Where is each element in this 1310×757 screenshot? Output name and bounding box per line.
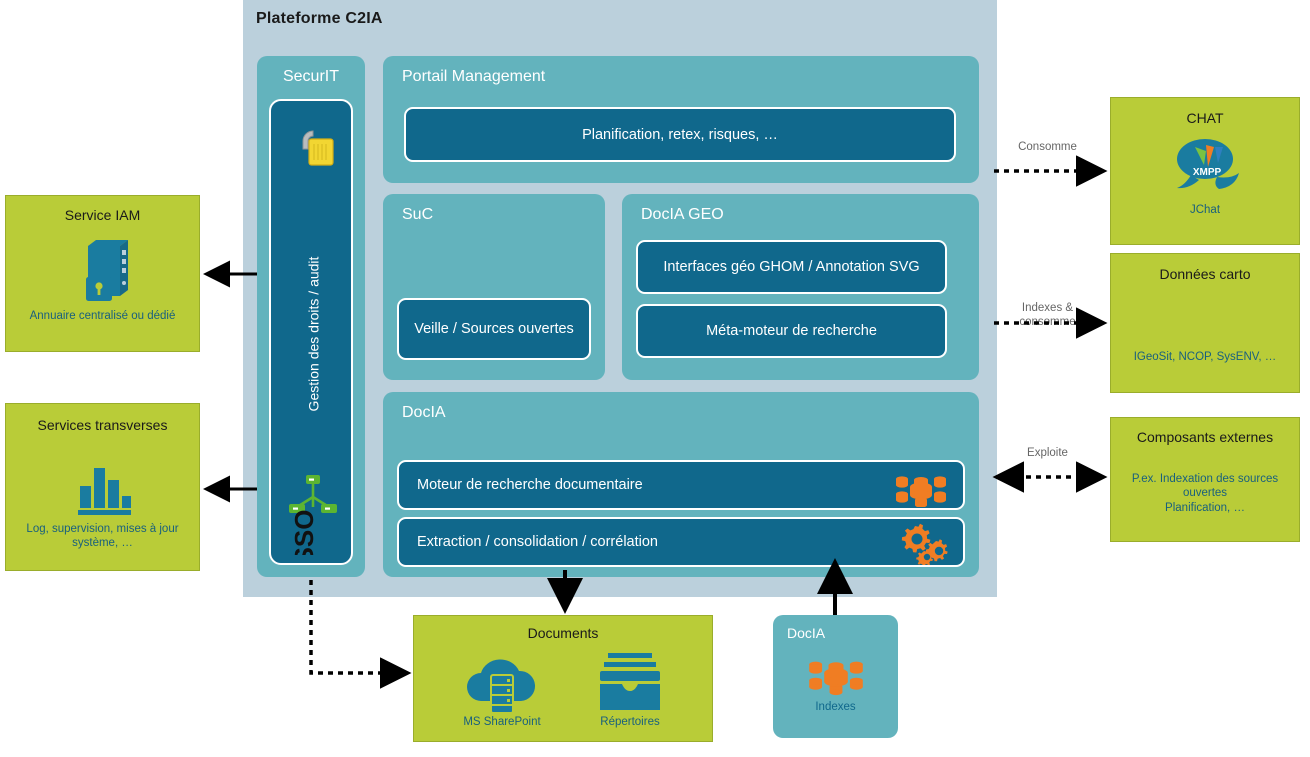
composants-externes-title: Composants externes: [1111, 429, 1299, 445]
arrow-label-externes: Exploite: [985, 447, 1110, 459]
service-iam-subtitle: Annuaire centralisé ou dédié: [6, 309, 199, 323]
docia-label: DocIA: [402, 404, 446, 422]
sharepoint-cloud-icon: [459, 653, 545, 715]
arrow-label-carto-line1: Indexes &: [985, 302, 1110, 314]
arrow-label-carto-line2: consomme: [985, 316, 1110, 328]
docia-indexes-caption: Indexes: [773, 701, 898, 713]
chat-subtitle: JChat: [1111, 203, 1299, 217]
sso-logo-icon: SSO: [283, 473, 343, 555]
portail-management-label: Portail Management: [402, 68, 545, 86]
suc-panel[interactable]: SuC Veille / Sources ouvertes: [383, 194, 605, 380]
securit-vertical-text: Gestion des droits / audit: [305, 257, 321, 412]
documents-box[interactable]: Documents MS SharePoint: [413, 615, 713, 742]
securit-label: SecurIT: [257, 68, 365, 86]
suc-item-label: Veille / Sources ouvertes: [414, 321, 574, 337]
donnees-carto-title: Données carto: [1111, 266, 1299, 282]
chat-title: CHAT: [1111, 110, 1299, 126]
documents-title: Documents: [414, 625, 712, 641]
donnees-carto-subtitle: IGeoSit, NCOP, SysENV, …: [1111, 350, 1299, 364]
portail-item-label: Planification, retex, risques, …: [582, 127, 778, 143]
xmpp-wordmark: XMPP: [1193, 167, 1222, 178]
docia-geo-panel[interactable]: DocIA GEO Interfaces géo GHOM / Annotati…: [622, 194, 979, 380]
bar-chart-icon: [68, 464, 140, 516]
sharepoint-caption: MS SharePoint: [434, 715, 570, 729]
service-iam-title: Service IAM: [6, 207, 199, 223]
services-transverses-title: Services transverses: [6, 417, 199, 433]
portail-management-panel[interactable]: Portail Management Planification, retex,…: [383, 56, 979, 183]
portail-item-pill[interactable]: Planification, retex, risques, …: [404, 107, 956, 162]
arrow-label-chat: Consomme: [985, 141, 1110, 153]
suc-label: SuC: [402, 206, 433, 224]
docia-indexes-box[interactable]: DocIA Indexes: [773, 615, 898, 738]
service-iam-box[interactable]: Service IAM Annuaire centralisé ou dédié: [5, 195, 200, 352]
docia-geo-item-1-pill[interactable]: Méta-moteur de recherche: [636, 304, 947, 358]
repertoires-caption: Répertoires: [570, 715, 690, 729]
services-transverses-box[interactable]: Services transverses Log, supervision, m…: [5, 403, 200, 571]
folder-tray-icon: [594, 651, 666, 715]
sso-text: SSO: [289, 510, 319, 555]
composants-externes-box[interactable]: Composants externes P.ex. Indexation des…: [1110, 417, 1300, 542]
docia-geo-item-1-label: Méta-moteur de recherche: [706, 323, 877, 339]
donnees-carto-box[interactable]: Données carto IGeoSit, NCOP, SysENV, …: [1110, 253, 1300, 393]
xmpp-chat-bubble-icon: XMPP: [1169, 135, 1247, 201]
database-cluster-icon: [806, 650, 866, 696]
composants-externes-subtitle: P.ex. Indexation des sources ouvertes Pl…: [1111, 472, 1299, 515]
server-lock-icon: [68, 238, 140, 304]
docia-geo-label: DocIA GEO: [641, 206, 724, 224]
chat-box[interactable]: CHAT XMPP JChat: [1110, 97, 1300, 245]
suc-item-pill[interactable]: Veille / Sources ouvertes: [397, 298, 591, 360]
services-transverses-subtitle: Log, supervision, mises à jour système, …: [6, 522, 199, 551]
platform-title: Plateforme C2IA: [256, 10, 383, 28]
docia-item-1-pill[interactable]: Extraction / consolidation / corrélation: [397, 517, 965, 567]
docia-geo-item-0-pill[interactable]: Interfaces géo GHOM / Annotation SVG: [636, 240, 947, 294]
docia-panel[interactable]: DocIA Moteur de recherche documentaire E…: [383, 392, 979, 577]
docia-item-0-pill[interactable]: Moteur de recherche documentaire: [397, 460, 965, 510]
docia-item-0-label: Moteur de recherche documentaire: [417, 477, 643, 493]
securit-panel[interactable]: SecurIT Gestion des droits / audit: [257, 56, 365, 577]
docia-indexes-label: DocIA: [787, 625, 825, 641]
database-cluster-icon: [893, 467, 949, 507]
gears-icon: [893, 523, 949, 565]
docia-geo-item-0-label: Interfaces géo GHOM / Annotation SVG: [663, 259, 919, 275]
securit-inner-card: Gestion des droits / audit: [269, 99, 353, 565]
docia-item-1-label: Extraction / consolidation / corrélation: [417, 534, 658, 550]
